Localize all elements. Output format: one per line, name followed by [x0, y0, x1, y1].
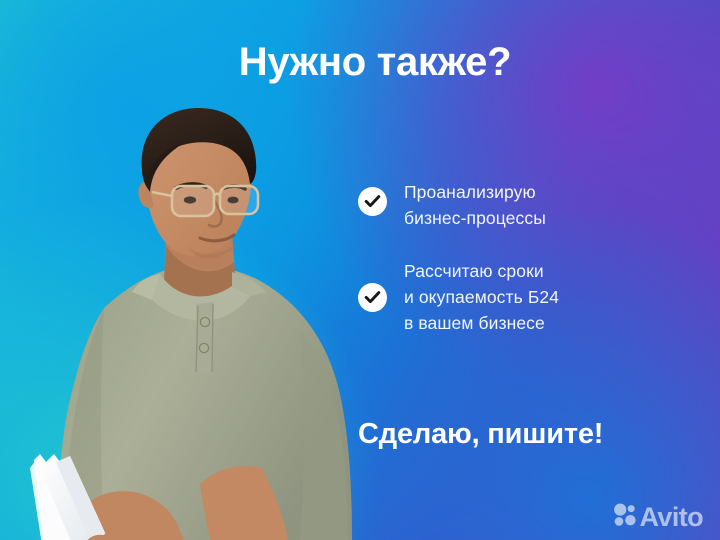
promo-banner: Нужно также? — [0, 0, 720, 540]
feature-text: Проанализирую бизнес-процессы — [404, 178, 546, 231]
avito-watermark: Avito — [612, 502, 704, 532]
feature-text: Рассчитаю сроки и окупаемость Б24 в ваше… — [404, 257, 559, 336]
feature-line: и окупаемость Б24 — [404, 284, 559, 310]
check-circle-icon — [358, 187, 387, 216]
feature-line: Рассчитаю сроки — [404, 258, 559, 284]
person-photo — [0, 96, 372, 540]
headline: Нужно также? — [0, 40, 720, 85]
avito-wordmark: Avito — [640, 504, 704, 531]
feature-item: Проанализирую бизнес-процессы — [358, 178, 688, 231]
feature-line: бизнес-процессы — [404, 205, 546, 231]
feature-line: Проанализирую — [404, 179, 546, 205]
cta-text: Сделаю, пишите! — [358, 418, 603, 451]
avito-dots-logo-icon — [612, 502, 637, 532]
check-circle-icon — [358, 283, 387, 312]
feature-item: Рассчитаю сроки и окупаемость Б24 в ваше… — [358, 257, 688, 336]
feature-list: Проанализирую бизнес-процессы Рассчитаю … — [358, 178, 688, 362]
feature-line: в вашем бизнесе — [404, 310, 559, 336]
